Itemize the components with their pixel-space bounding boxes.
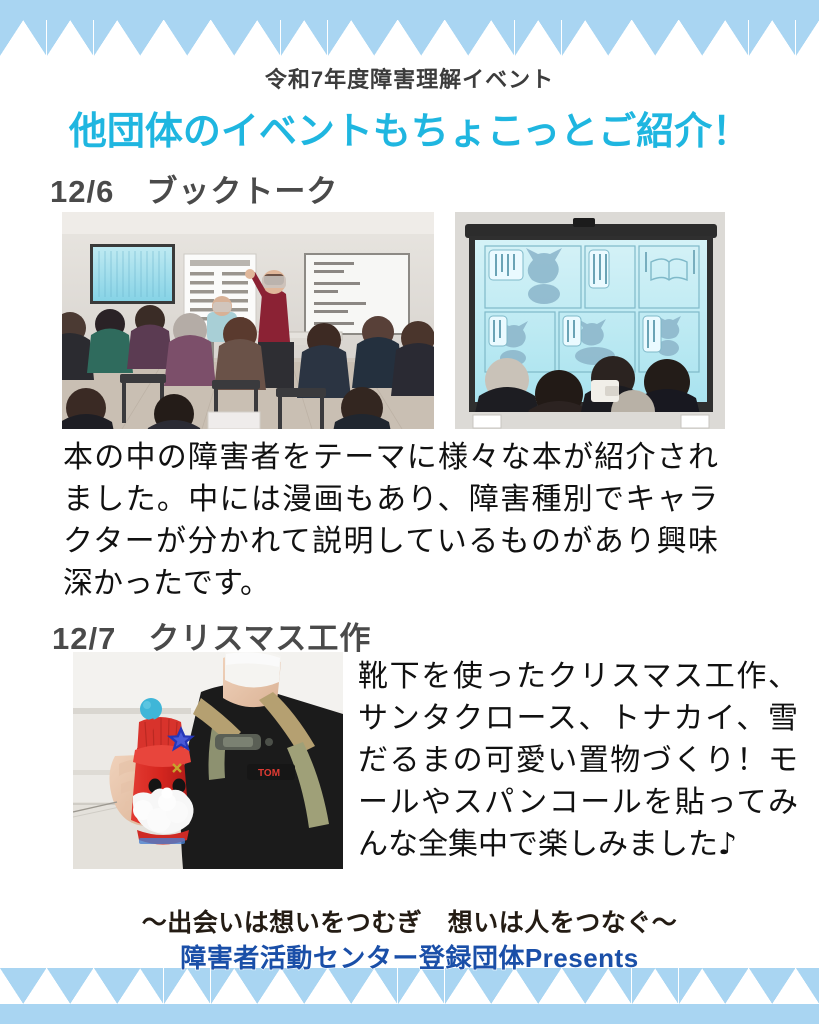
event-kicker: 令和7年度障害理解イベント xyxy=(0,62,819,94)
border-triangle xyxy=(655,20,702,56)
sparkle-icon xyxy=(421,4,468,17)
sparkle-icon xyxy=(47,4,94,17)
sparkle-icon xyxy=(374,4,421,17)
booktalk-screen-photo xyxy=(455,212,725,429)
sparkle-icon xyxy=(796,4,819,17)
border-triangle xyxy=(562,20,609,56)
border-triangle xyxy=(608,20,655,56)
border-triangle xyxy=(140,20,187,56)
border-triangle xyxy=(702,20,749,56)
sparkle-icon xyxy=(749,1008,796,1021)
top-border-triangles xyxy=(0,20,819,56)
top-border-sparkles xyxy=(0,0,819,20)
sparkle-icon xyxy=(281,1008,328,1021)
border-triangle xyxy=(515,20,562,56)
sparkle-icon xyxy=(468,4,515,17)
border-triangle xyxy=(374,20,421,56)
sparkle-icon xyxy=(562,1008,609,1021)
sparkle-icon xyxy=(749,4,796,17)
sparkle-icon xyxy=(140,1008,187,1021)
section-heading-xmas: 12/7 クリスマス工作 xyxy=(52,613,371,658)
sparkle-icon xyxy=(796,1008,819,1021)
border-triangle xyxy=(94,20,141,56)
border-triangle xyxy=(421,20,468,56)
sparkle-icon xyxy=(608,1008,655,1021)
footer-organization: 障害者活動センター登録団体Presents xyxy=(0,938,819,975)
border-triangle xyxy=(328,20,375,56)
footer-tagline: 〜出会いは想いをつむぎ 想いは人をつなぐ〜 xyxy=(0,903,819,939)
sparkle-icon xyxy=(187,4,234,17)
sparkle-icon xyxy=(702,4,749,17)
sparkle-icon xyxy=(655,4,702,17)
sparkle-icon xyxy=(47,1008,94,1021)
sparkle-icon xyxy=(140,4,187,17)
border-triangle xyxy=(187,20,234,56)
booktalk-room-photo xyxy=(62,212,434,429)
border-triangle xyxy=(281,20,328,56)
section-body-xmas: 靴下を使ったクリスマス工作、サンタクロース、トナカイ、雪だるまの可愛い置物づくり… xyxy=(358,656,798,866)
sparkle-icon xyxy=(421,1008,468,1021)
section-body-booktalk: 本の中の障害者をテーマに様々な本が紹介されました。中には漫画もあり、障害種別でキ… xyxy=(63,437,718,605)
sparkle-icon xyxy=(515,1008,562,1021)
bottom-border-sparkles xyxy=(0,1004,819,1024)
top-border-decoration xyxy=(0,0,819,56)
xmas-craft-photo: TOM xyxy=(73,652,343,869)
section-heading-booktalk: 12/6 ブックトーク xyxy=(50,166,338,211)
sparkle-icon xyxy=(94,4,141,17)
sparkle-icon xyxy=(562,4,609,17)
sparkle-icon xyxy=(328,4,375,17)
sparkle-icon xyxy=(187,1008,234,1021)
sparkle-icon xyxy=(374,1008,421,1021)
sparkle-icon xyxy=(234,4,281,17)
sparkle-icon xyxy=(94,1008,141,1021)
sparkle-icon xyxy=(515,4,562,17)
page-title: 他団体のイベントもちょこっとご紹介！ xyxy=(0,100,819,155)
bottom-border-decoration xyxy=(0,968,819,1024)
poster-canvas: 令和7年度障害理解イベント 他団体のイベントもちょこっとご紹介！ 12/6 ブッ… xyxy=(0,0,819,1024)
sparkle-icon xyxy=(0,4,47,17)
sparkle-icon xyxy=(281,4,328,17)
sparkle-icon xyxy=(702,1008,749,1021)
sparkle-icon xyxy=(234,1008,281,1021)
border-triangle xyxy=(468,20,515,56)
sparkle-icon xyxy=(328,1008,375,1021)
sparkle-icon xyxy=(608,4,655,17)
svg-text:TOM: TOM xyxy=(258,768,280,779)
border-triangle xyxy=(234,20,281,56)
border-triangle xyxy=(749,20,796,56)
sparkle-icon xyxy=(468,1008,515,1021)
border-triangle xyxy=(796,20,819,56)
border-triangle xyxy=(0,20,47,56)
border-triangle xyxy=(47,20,94,56)
sparkle-icon xyxy=(0,1008,47,1021)
sparkle-icon xyxy=(655,1008,702,1021)
